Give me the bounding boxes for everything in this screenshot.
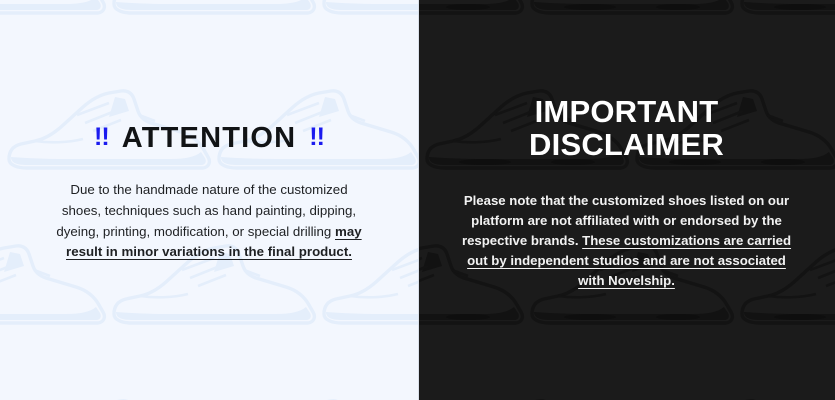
disclaimer-panel: IMPORTANT DISCLAIMER Please note that th…: [418, 0, 835, 400]
disclaimer-heading-line2: DISCLAIMER: [529, 129, 724, 162]
attention-panel: !! ATTENTION !! Due to the handmade natu…: [0, 0, 418, 400]
attention-heading: !! ATTENTION !!: [94, 124, 324, 153]
disclaimer-content: IMPORTANT DISCLAIMER Please note that th…: [418, 0, 835, 400]
attention-heading-text: ATTENTION: [122, 124, 297, 153]
exclamation-marks-left-icon: !!: [94, 125, 109, 150]
disclaimer-heading: IMPORTANT DISCLAIMER: [529, 96, 724, 162]
attention-body-normal: Due to the handmade nature of the custom…: [56, 182, 356, 238]
panel-divider: [418, 0, 419, 400]
disclaimer-body: Please note that the customized shoes li…: [462, 191, 792, 291]
attention-body: Due to the handmade nature of the custom…: [53, 180, 365, 262]
attention-content: !! ATTENTION !! Due to the handmade natu…: [0, 0, 418, 400]
disclaimer-heading-line1: IMPORTANT: [529, 96, 724, 129]
exclamation-marks-right-icon: !!: [309, 125, 324, 150]
disclaimer-banner: !! ATTENTION !! Due to the handmade natu…: [0, 0, 835, 400]
